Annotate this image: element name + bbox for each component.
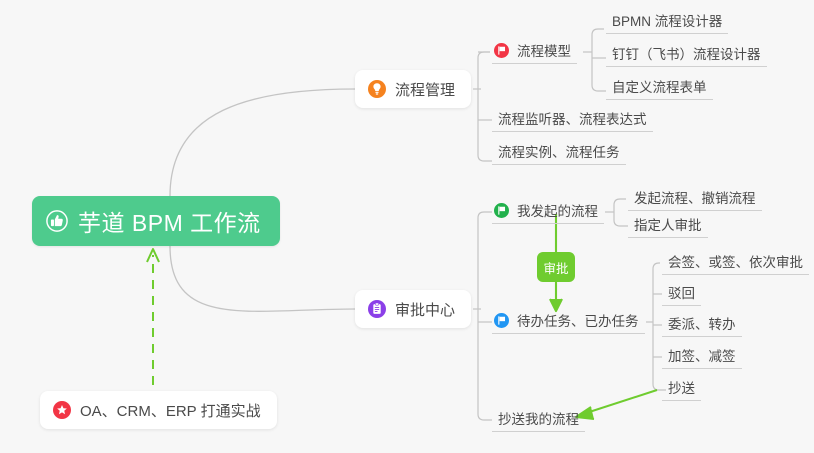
leaf-add-remove-sign[interactable]: 加签、减签: [662, 345, 742, 369]
branch-label-process-management: 流程管理: [395, 79, 455, 100]
leaf-label-todo-done-tasks: 待办任务、已办任务: [517, 310, 639, 330]
leaf-label-reject: 驳回: [668, 282, 695, 302]
thumbs-up-icon: [46, 210, 68, 232]
branch-node-process-management[interactable]: 流程管理: [355, 70, 471, 108]
lightbulb-icon: [368, 80, 386, 98]
leaf-label-countersign-orsign-sequential: 会签、或签、依次审批: [668, 251, 803, 271]
annotation-cc-arrow: [576, 390, 657, 419]
leaf-process-listener-expression[interactable]: 流程监听器、流程表达式: [492, 108, 653, 132]
leaf-label-add-remove-sign: 加签、减签: [668, 345, 736, 365]
leaf-start-cancel-process[interactable]: 发起流程、撤销流程: [628, 187, 762, 211]
leaf-label-process-listener-expression: 流程监听器、流程表达式: [498, 108, 647, 128]
leaf-custom-process-form[interactable]: 自定义流程表单: [606, 76, 713, 100]
wire-root-to-approval-center: [170, 246, 355, 311]
leaf-label-process-model: 流程模型: [517, 40, 571, 60]
leaf-cc-to-me-process[interactable]: 抄送我的流程: [492, 408, 585, 432]
star-icon: [53, 401, 71, 419]
leaf-cc[interactable]: 抄送: [662, 377, 701, 401]
root-node[interactable]: 芋道 BPM 工作流: [32, 196, 280, 246]
leaf-process-instance-task[interactable]: 流程实例、流程任务: [492, 141, 626, 165]
wire-init-spine: [614, 199, 628, 226]
wire-model-spine: [592, 29, 606, 91]
mindmap-canvas: 芋道 BPM 工作流 流程管理 审批中心: [0, 0, 814, 453]
leaf-assignee-approval[interactable]: 指定人审批: [628, 214, 708, 238]
leaf-countersign-orsign-sequential[interactable]: 会签、或签、依次审批: [662, 251, 809, 275]
leaf-my-initiated-process[interactable]: 我发起的流程: [492, 200, 604, 224]
annotation-oa-dashed-arrow: [147, 249, 159, 385]
leaf-dingtalk-feishu-designer[interactable]: 钉钉（飞书）流程设计器: [606, 43, 767, 67]
leaf-label-bpmn-designer: BPMN 流程设计器: [612, 10, 722, 30]
flag-icon: [494, 313, 509, 328]
flag-icon: [494, 203, 509, 218]
leaf-label-dingtalk-feishu-designer: 钉钉（飞书）流程设计器: [612, 43, 761, 63]
leaf-label-delegate-transfer: 委派、转办: [668, 313, 736, 333]
leaf-label-my-initiated-process: 我发起的流程: [517, 200, 598, 220]
detached-node-oa-crm-erp[interactable]: OA、CRM、ERP 打通实战: [40, 391, 277, 429]
leaf-bpmn-designer[interactable]: BPMN 流程设计器: [606, 10, 728, 34]
leaf-label-cc: 抄送: [668, 377, 695, 397]
branch-label-approval-center: 审批中心: [395, 299, 455, 320]
detached-label-oa-crm-erp: OA、CRM、ERP 打通实战: [80, 400, 261, 421]
leaf-delegate-transfer[interactable]: 委派、转办: [662, 313, 742, 337]
annotation-badge-approve[interactable]: 审批: [537, 252, 575, 282]
leaf-process-model[interactable]: 流程模型: [492, 40, 577, 64]
leaf-label-custom-process-form: 自定义流程表单: [612, 76, 707, 96]
wire-root-to-process-management: [170, 89, 355, 196]
branch-node-approval-center[interactable]: 审批中心: [355, 290, 471, 328]
flag-icon: [494, 43, 509, 58]
wire-ac-spine: [478, 212, 492, 420]
leaf-label-assignee-approval: 指定人审批: [634, 214, 702, 234]
clipboard-icon: [368, 300, 386, 318]
root-label: 芋道 BPM 工作流: [78, 204, 261, 238]
wire-pm-spine: [478, 52, 492, 161]
leaf-reject[interactable]: 驳回: [662, 282, 701, 306]
leaf-label-start-cancel-process: 发起流程、撤销流程: [634, 187, 756, 207]
leaf-label-process-instance-task: 流程实例、流程任务: [498, 141, 620, 161]
leaf-label-cc-to-me-process: 抄送我的流程: [498, 408, 579, 428]
annotation-badge-approve-label: 审批: [543, 258, 568, 277]
leaf-todo-done-tasks[interactable]: 待办任务、已办任务: [492, 310, 645, 334]
